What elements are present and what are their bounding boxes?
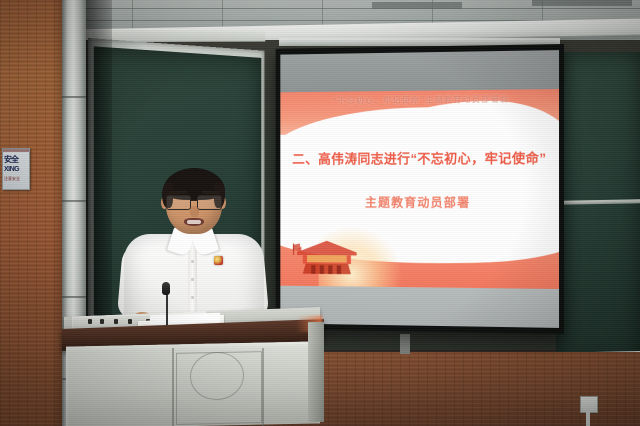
- nose: [190, 206, 199, 217]
- slide-subtitle: 主题教育动员部署: [288, 194, 550, 210]
- sign-line-2: XING: [4, 166, 28, 174]
- sign-line-1: 安全: [4, 155, 28, 164]
- tiananmen-gate-icon: [291, 219, 362, 284]
- wall-outlet-conduit: [586, 411, 590, 426]
- sign-accent-bar: [3, 149, 29, 152]
- chalkboard-right-surface: [556, 52, 640, 364]
- projection-screen: “不忘初心、牢记使命”主题教育动员部署会 二、高伟涛同志进行“不忘初心，牢记使命…: [276, 44, 564, 334]
- gooseneck-microphone: [162, 282, 170, 295]
- sign-line-3: 注意安全: [4, 176, 28, 181]
- wall-safety-sign: 安全 XING 注意安全: [2, 148, 30, 190]
- photo-scene: “不忘初心、牢记使命”主题教育动员部署会 二、高伟涛同志进行“不忘初心，牢记使命…: [0, 0, 640, 426]
- projection-screen-foot: [400, 334, 410, 354]
- slide-top-band: [280, 50, 559, 92]
- party-emblem-badge: [214, 256, 223, 265]
- teeth: [187, 220, 201, 224]
- lectern-side-panel: [308, 322, 324, 422]
- slide-surface: “不忘初心、牢记使命”主题教育动员部署会 二、高伟涛同志进行“不忘初心，牢记使命…: [280, 50, 559, 328]
- slide-title: 二、高伟涛同志进行“不忘初心，牢记使命”: [288, 150, 550, 168]
